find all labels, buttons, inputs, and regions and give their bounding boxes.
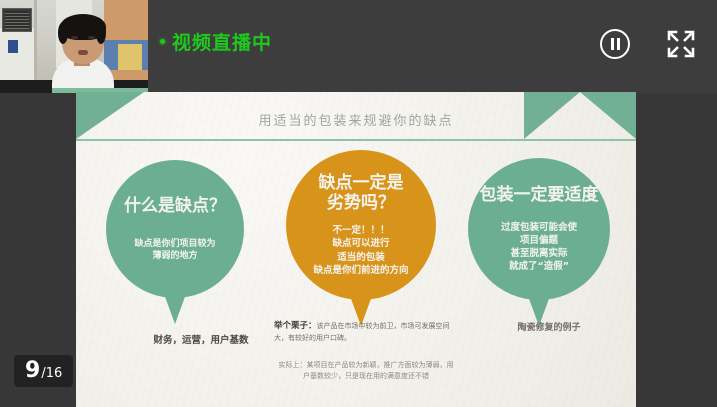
- presenter-hair-left: [58, 22, 68, 44]
- bubble-body: 过度包装可能会使 项目偏题 甚至脱离实际 就成了“造假”: [501, 221, 577, 273]
- caption-center-note: 实际上：某项目在产品较为新颖，推广方面较为薄弱，用户基数较少，只是现在用的满意度…: [276, 360, 456, 382]
- webcam-sticker: [8, 40, 18, 53]
- presenter-webcam[interactable]: [0, 0, 148, 93]
- bubble-body: 不一定！！！ 缺点可以进行 适当的包装 缺点是你们前进的方向: [313, 224, 408, 276]
- live-player-window: 视频直播中: [0, 0, 717, 407]
- player-top-bar: 视频直播中: [148, 0, 717, 93]
- live-status: 视频直播中: [160, 28, 272, 55]
- fullscreen-icon[interactable]: [665, 28, 697, 65]
- bubble-heading: 包装一定要适度: [480, 185, 599, 205]
- caption-center-example: 举个栗子：该产品在市场中较为前卫，市场可发展空间大，有较好的用户口碑。: [274, 320, 456, 343]
- slide-title: 用适当的包装来规避你的缺点: [76, 110, 636, 129]
- webcam-poster-inner: [118, 44, 142, 70]
- webcam-cabinet: [0, 28, 35, 83]
- presenter-eye-left: [71, 36, 78, 39]
- presenter-hair-right: [96, 22, 106, 44]
- bubble-what-is-weakness: 什么是缺点？ 缺点是你们项目较为 薄弱的地方: [106, 160, 244, 298]
- presentation-slide[interactable]: 用适当的包装来规避你的缺点 什么是缺点？ 缺点是你们项目较为 薄弱的地方 缺点一…: [76, 92, 636, 407]
- live-dot-icon: [160, 39, 165, 44]
- slide-header-rule: [76, 139, 636, 141]
- bubble-body: 缺点是你们项目较为 薄弱的地方: [134, 238, 215, 263]
- caption-center-lead: 举个栗子：: [274, 321, 317, 331]
- caption-left: 财务，运营，用户基数: [116, 332, 286, 346]
- air-conditioner-icon: [2, 8, 32, 32]
- presenter-mouth: [78, 50, 88, 55]
- player-controls: [599, 28, 697, 65]
- bubble-packaging-moderation: 包装一定要适度 过度包装可能会使 项目偏题 甚至脱离实际 就成了“造假”: [468, 158, 610, 300]
- bubble-is-weakness-disadvantage: 缺点一定是 劣势吗？ 不一定！！！ 缺点可以进行 适当的包装 缺点是你们前进的方…: [286, 150, 436, 300]
- bubble-heading: 什么是缺点？: [124, 196, 226, 216]
- caption-right: 陶瓷修复的例子: [474, 320, 624, 333]
- presenter-eye-right: [88, 36, 95, 39]
- bubble-tail: [164, 294, 186, 324]
- page-counter[interactable]: 9 / 16: [14, 355, 73, 387]
- pause-icon[interactable]: [599, 28, 631, 65]
- bubble-heading: 缺点一定是 劣势吗？: [319, 173, 404, 213]
- page-total: 16: [46, 366, 63, 381]
- live-status-label: 视频直播中: [172, 28, 272, 55]
- page-current: 9: [25, 358, 40, 383]
